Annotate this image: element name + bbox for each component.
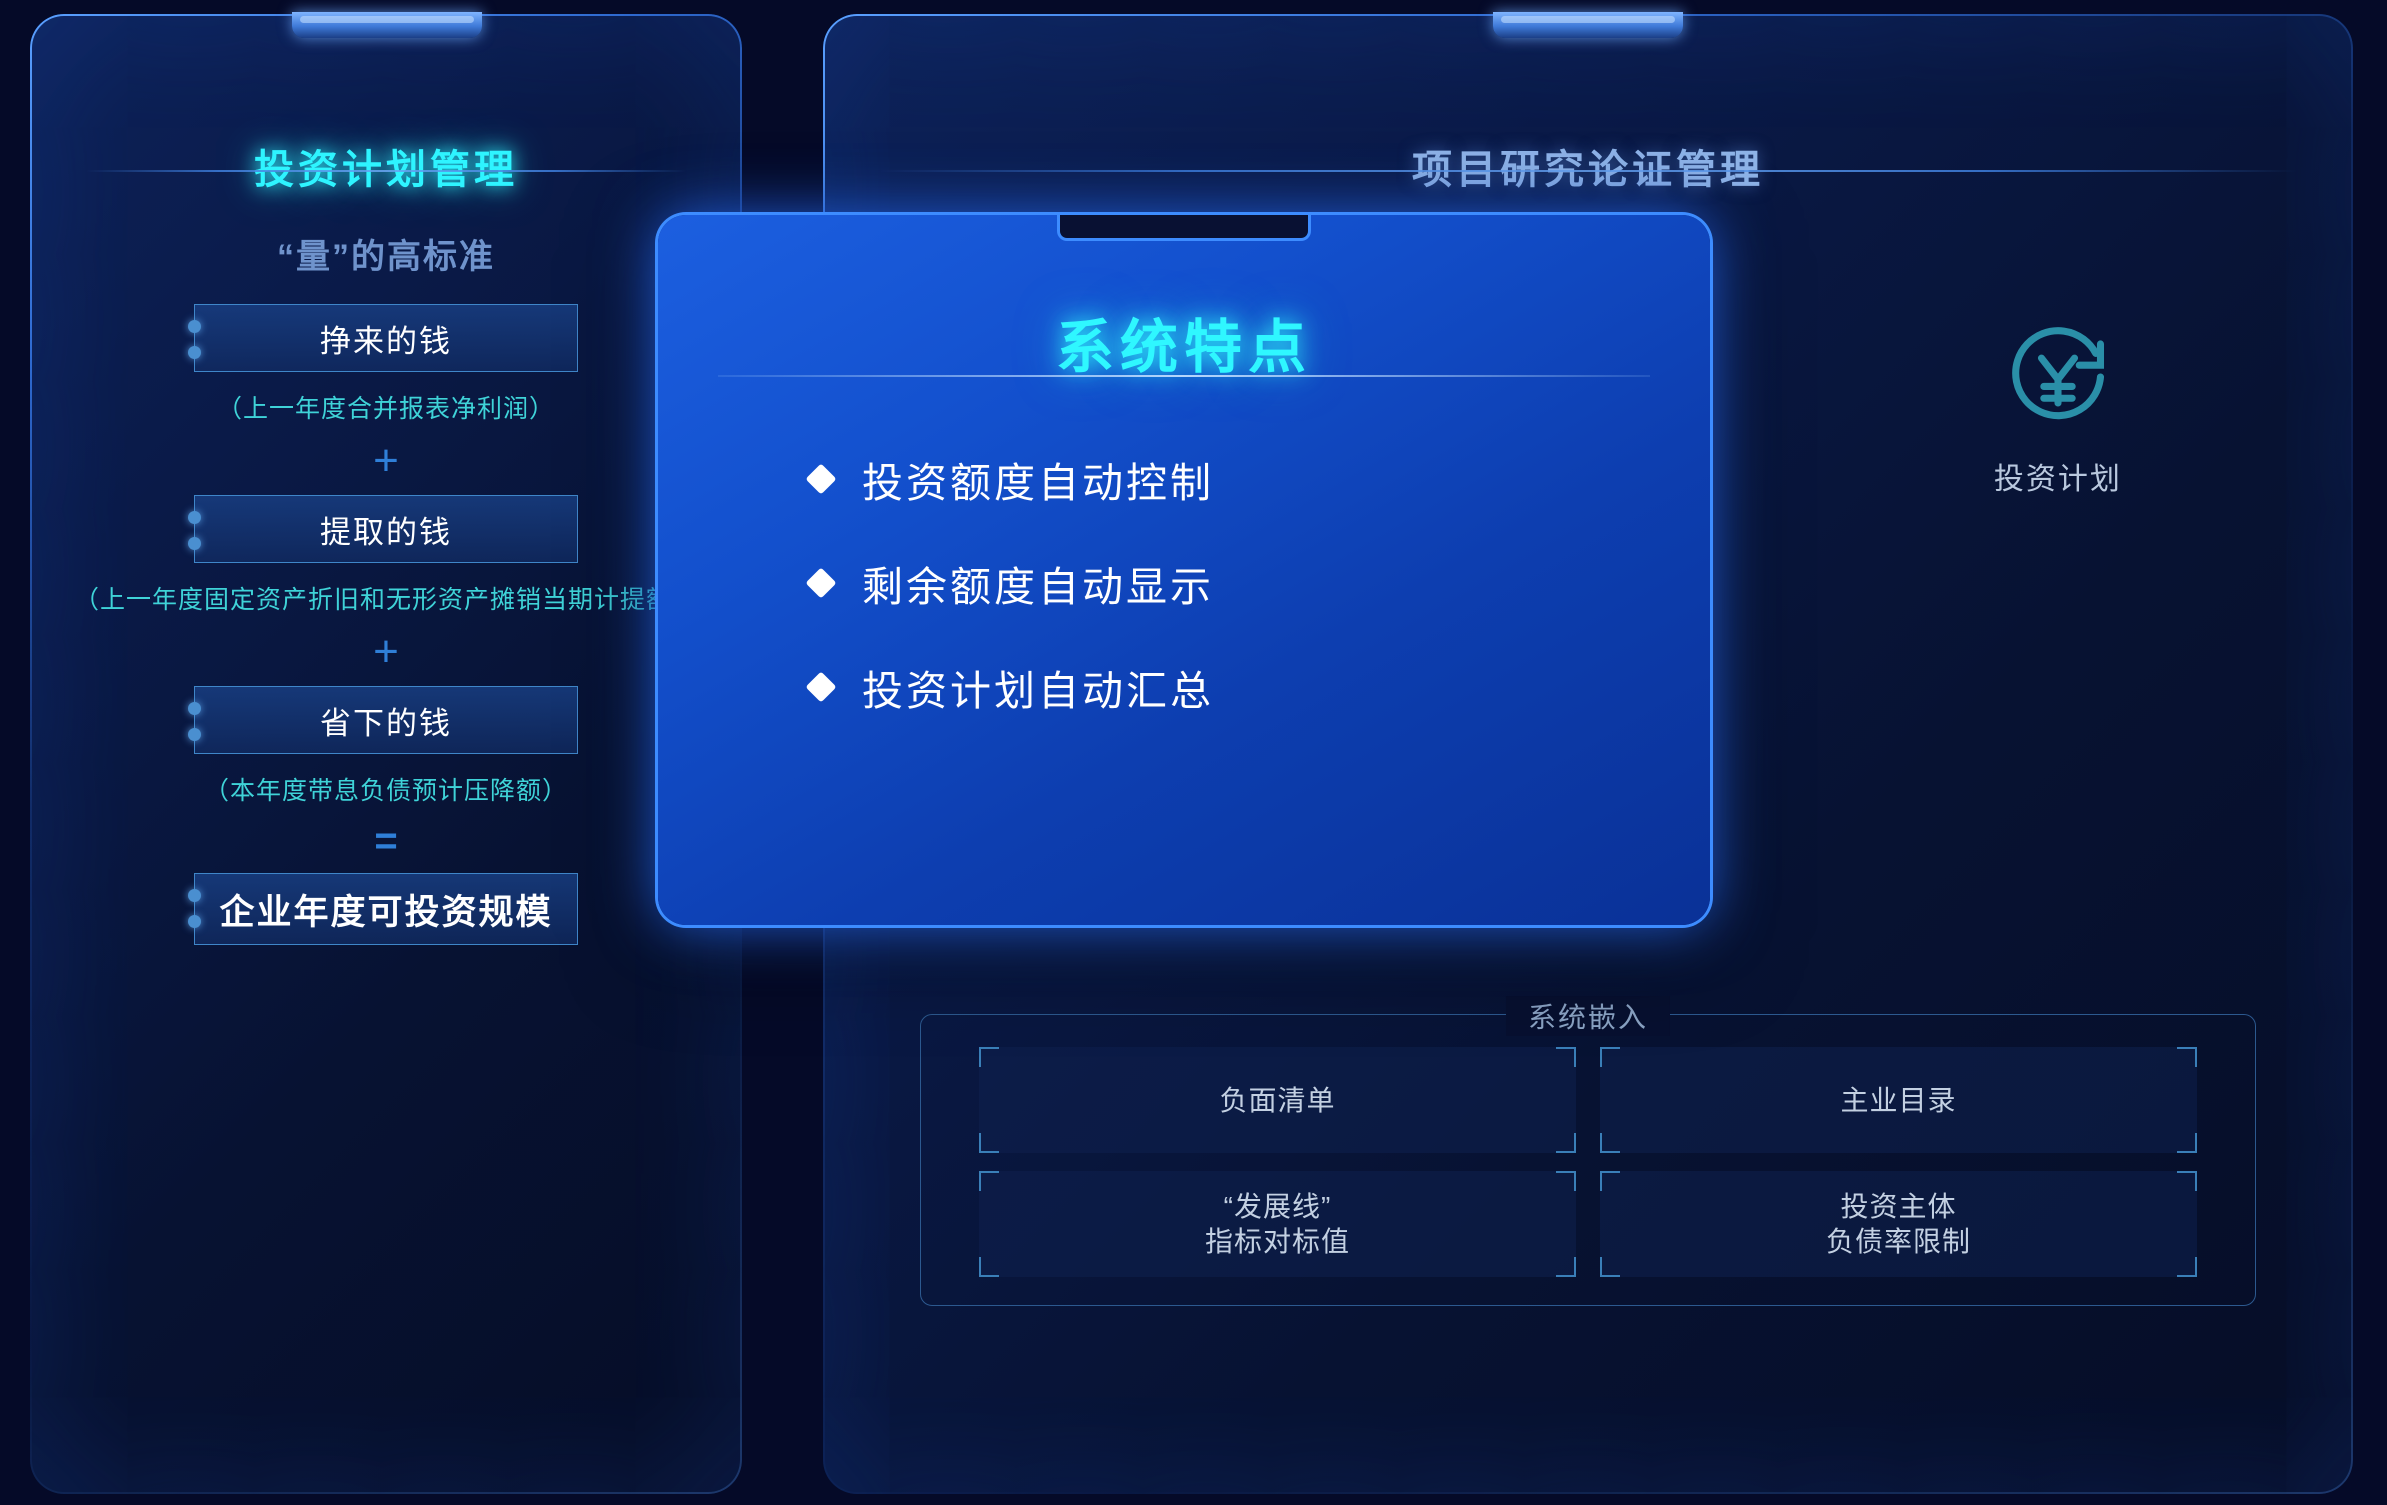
corner-bracket-icon: [1556, 1047, 1576, 1067]
corner-bracket-icon: [1600, 1257, 1620, 1277]
subtitle-left: “量”的高标准: [30, 229, 742, 278]
embed-chip-development-line[interactable]: “发展线” 指标对标值: [979, 1171, 1576, 1277]
edge-dot-icon: [188, 702, 201, 715]
embed-chip-label-line1: “发展线”: [1224, 1191, 1332, 1222]
card-title: 系统特点: [658, 300, 1710, 384]
feature-label: 投资计划自动汇总: [862, 657, 1214, 717]
formula-result-label: 企业年度可投资规模: [219, 884, 552, 935]
list-item[interactable]: 剩余额度自动显示: [810, 553, 1630, 613]
formula-term-label: 省下的钱: [320, 698, 452, 743]
diamond-bullet-icon: [805, 671, 836, 702]
card-top-notch: [1057, 215, 1311, 241]
formula-operator-equals: =: [30, 821, 742, 861]
feature-label: 投资额度自动控制: [862, 449, 1214, 509]
embed-chip-label-line2: 指标对标值: [1205, 1226, 1350, 1257]
slide-stage: 投资计划管理 “量”的高标准 挣来的钱 （上一年度合并报表净利润） + 提取的钱…: [0, 0, 2387, 1505]
embed-chip-negative-list[interactable]: 负面清单: [979, 1047, 1576, 1153]
edge-dot-icon: [188, 346, 201, 359]
corner-bracket-icon: [1600, 1171, 1620, 1191]
list-item[interactable]: 投资额度自动控制: [810, 449, 1630, 509]
corner-bracket-icon: [2177, 1171, 2197, 1191]
corner-bracket-icon: [1600, 1133, 1620, 1153]
panel-investment-plan: 投资计划管理 “量”的高标准 挣来的钱 （上一年度合并报表净利润） + 提取的钱…: [30, 14, 742, 1494]
panel-top-notch: [292, 12, 482, 38]
embed-chip-investor-debt-limit[interactable]: 投资主体 负债率限制: [1600, 1171, 2197, 1277]
title-divider-right: [879, 170, 2297, 172]
feature-list: 投资额度自动控制 剩余额度自动显示 投资计划自动汇总: [810, 449, 1630, 761]
module-label: 投资计划: [1994, 454, 2122, 498]
formula-note: （上一年度固定资产折旧和无形资产摊销当期计提额）: [30, 580, 742, 616]
formula-stack: 挣来的钱 （上一年度合并报表净利润） + 提取的钱 （上一年度固定资产折旧和无形…: [30, 304, 742, 945]
list-item[interactable]: 投资计划自动汇总: [810, 657, 1630, 717]
formula-note: （上一年度合并报表净利润）: [30, 389, 742, 425]
corner-bracket-icon: [2177, 1257, 2197, 1277]
corner-bracket-icon: [979, 1133, 999, 1153]
corner-bracket-icon: [979, 1047, 999, 1067]
formula-term-label: 挣来的钱: [320, 316, 452, 361]
edge-dot-icon: [188, 537, 201, 550]
diamond-bullet-icon: [805, 567, 836, 598]
formula-operator-plus: +: [30, 439, 742, 483]
corner-bracket-icon: [1556, 1171, 1576, 1191]
system-embed-legend: 系统嵌入: [1506, 996, 1670, 1036]
edge-dot-icon: [188, 889, 201, 902]
formula-term-label: 提取的钱: [320, 507, 452, 552]
formula-result-box[interactable]: 企业年度可投资规模: [194, 873, 578, 945]
embed-chip-label: 负面清单: [1219, 1083, 1335, 1118]
module-item-investment-plan[interactable]: 投资计划: [1823, 314, 2293, 549]
edge-dot-icon: [188, 728, 201, 741]
corner-bracket-icon: [2177, 1133, 2197, 1153]
edge-dot-icon: [188, 320, 201, 333]
embed-chip-main-business-catalog[interactable]: 主业目录: [1600, 1047, 2197, 1153]
formula-term-box[interactable]: 省下的钱: [194, 686, 578, 754]
formula-operator-plus: +: [30, 630, 742, 674]
diamond-bullet-icon: [805, 463, 836, 494]
module-item-empty: [1823, 549, 2293, 784]
corner-bracket-icon: [1556, 1133, 1576, 1153]
feature-label: 剩余额度自动显示: [862, 553, 1214, 613]
page-title-right: 项目研究论证管理: [823, 137, 2353, 195]
corner-bracket-icon: [1600, 1047, 1620, 1067]
system-features-card[interactable]: 系统特点 投资额度自动控制 剩余额度自动显示 投资计划自动汇总: [658, 215, 1710, 925]
system-embed-grid: 负面清单 主业目录 “发展线” 指标对标值: [979, 1047, 2197, 1277]
corner-bracket-icon: [1556, 1257, 1576, 1277]
corner-bracket-icon: [979, 1171, 999, 1191]
edge-dot-icon: [188, 511, 201, 524]
formula-term-box[interactable]: 提取的钱: [194, 495, 578, 563]
formula-term-box[interactable]: 挣来的钱: [194, 304, 578, 372]
formula-note: （本年度带息负债预计压降额）: [30, 771, 742, 807]
system-embed-group: 系统嵌入 负面清单 主业目录: [920, 1014, 2256, 1306]
page-title-left: 投资计划管理: [30, 137, 742, 195]
title-divider-left: [86, 170, 686, 172]
edge-dot-icon: [188, 915, 201, 928]
panel-top-notch: [1493, 12, 1683, 38]
embed-chip-label-line2: 负债率限制: [1826, 1226, 1971, 1257]
corner-bracket-icon: [2177, 1047, 2197, 1067]
card-divider: [718, 375, 1650, 377]
yen-refresh-icon: [1999, 318, 2117, 436]
corner-bracket-icon: [979, 1257, 999, 1277]
embed-chip-label: 主业目录: [1840, 1083, 1956, 1118]
embed-chip-label-line1: 投资主体: [1840, 1191, 1956, 1222]
